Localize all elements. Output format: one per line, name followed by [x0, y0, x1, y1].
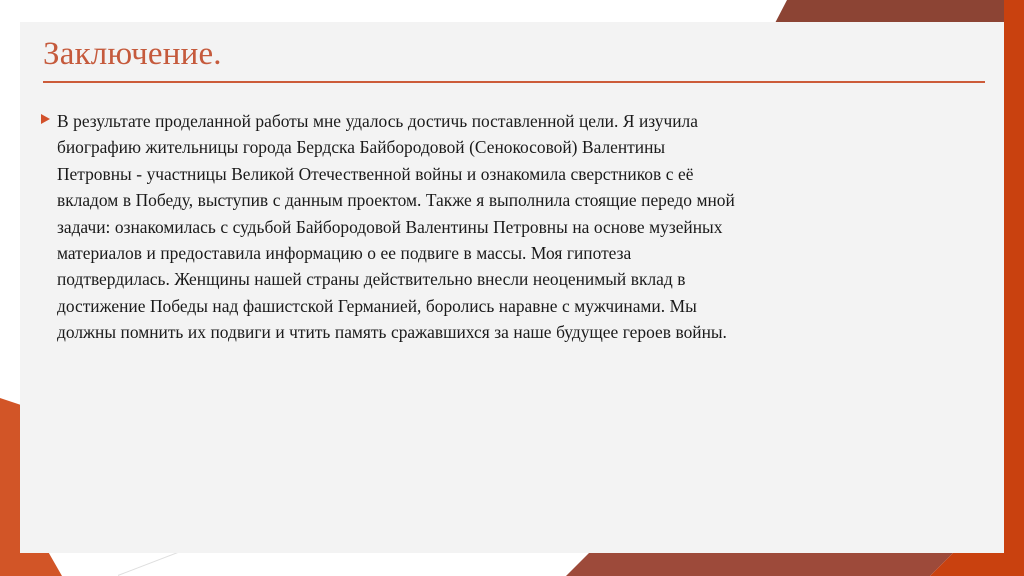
- list-item: В результате проделанной работы мне удал…: [40, 108, 740, 346]
- body-block: В результате проделанной работы мне удал…: [40, 108, 740, 346]
- slide: Заключение. В результате проделанной раб…: [0, 0, 1024, 576]
- body-paragraph-text: В результате проделанной работы мне удал…: [57, 111, 735, 342]
- title-underline-rule: [43, 81, 985, 83]
- page-title: Заключение.: [43, 36, 985, 74]
- title-block: Заключение.: [43, 36, 985, 83]
- right-edge-orange-bar-decoration: [1004, 0, 1024, 576]
- triangle-bullet-icon: [41, 114, 50, 124]
